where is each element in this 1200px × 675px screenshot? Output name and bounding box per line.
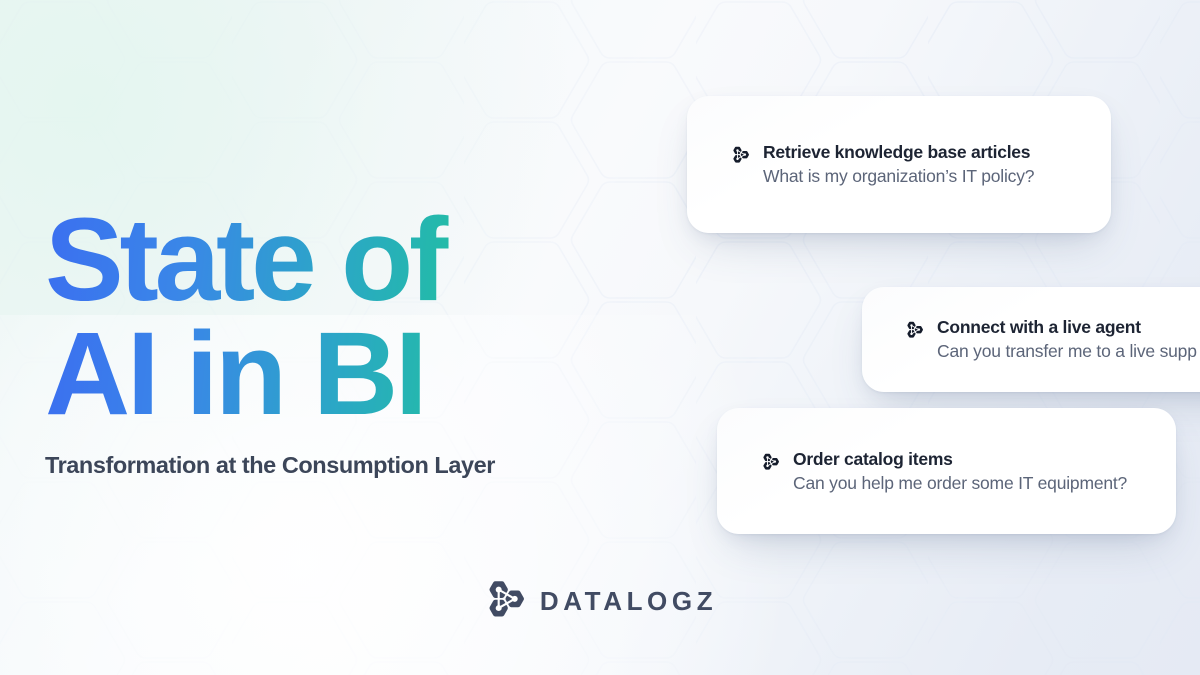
logo-wordmark: DATALOGZ — [540, 586, 717, 617]
node-network-icon — [731, 145, 750, 169]
card-title: Connect with a live agent — [937, 317, 1197, 338]
datalogz-hexagon-node-icon — [483, 578, 527, 624]
prompt-card-connect-with-a-live-agent[interactable]: Connect with a live agent Can you transf… — [862, 287, 1200, 392]
prompt-card-retrieve-knowledge-base-articles[interactable]: Retrieve knowledge base articles What is… — [687, 96, 1111, 233]
page-title-line-2: AI in BI — [45, 317, 665, 431]
card-title: Order catalog items — [793, 449, 1127, 470]
node-network-icon — [761, 452, 780, 476]
brand-logo: DATALOGZ — [0, 578, 1200, 624]
page-title-line-1: State of — [45, 203, 665, 317]
card-subtitle: Can you transfer me to a live supp — [937, 341, 1197, 362]
page-subtitle: Transformation at the Consumption Layer — [45, 452, 665, 479]
prompt-card-order-catalog-items[interactable]: Order catalog items Can you help me orde… — [717, 408, 1176, 534]
hero-headline-block: State of AI in BI Transformation at the … — [45, 203, 665, 479]
node-network-icon — [905, 320, 924, 344]
card-subtitle: Can you help me order some IT equipment? — [793, 473, 1127, 494]
card-subtitle: What is my organization’s IT policy? — [763, 166, 1034, 187]
card-title: Retrieve knowledge base articles — [763, 142, 1034, 163]
